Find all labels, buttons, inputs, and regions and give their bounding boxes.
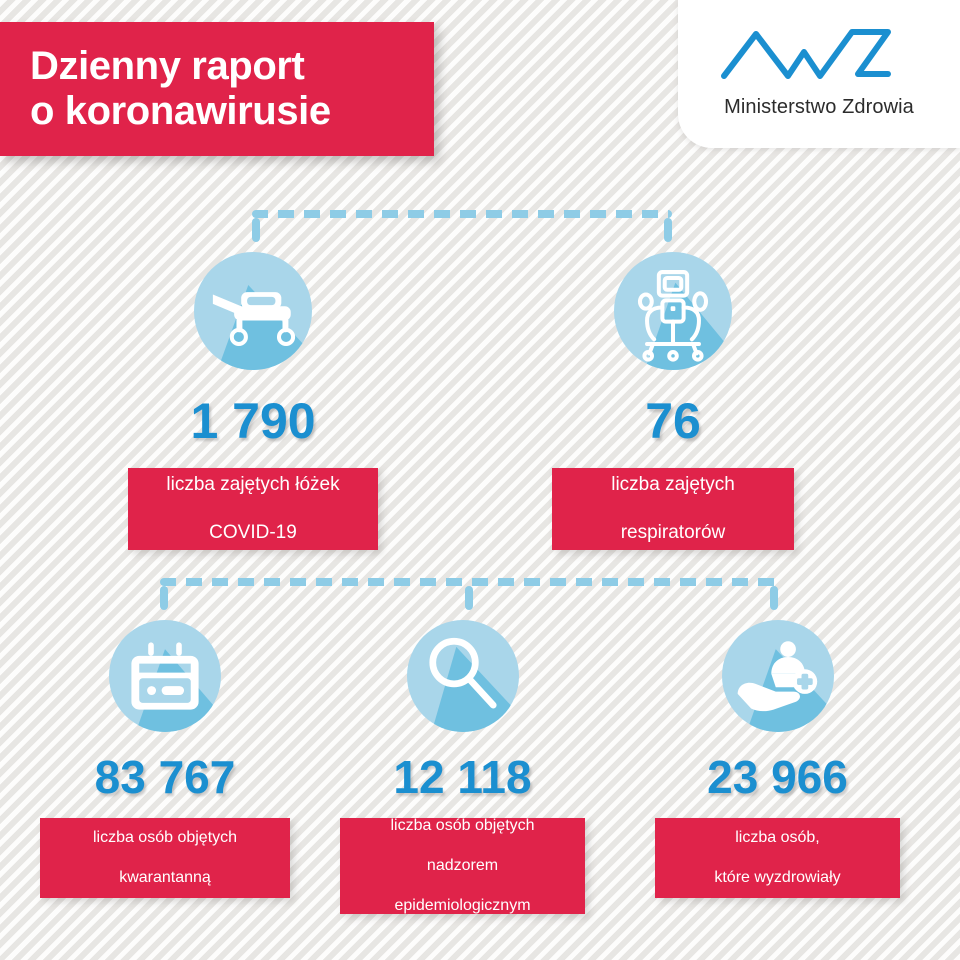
stat-label-banner: liczba zajętych respiratorów	[552, 468, 794, 550]
stat-label-banner: liczba zajętych łóżek COVID-19	[128, 468, 378, 550]
stat-epidemiological-supervision: 12 118 liczba osób objętych nadzorem epi…	[340, 620, 585, 914]
stat-label-line: kwarantanną	[93, 868, 237, 888]
hospital-bed-glyph	[194, 252, 312, 370]
stat-label-line: nadzorem	[390, 856, 534, 876]
magnifier-glyph	[407, 620, 519, 732]
stat-label-line: respiratorów	[611, 521, 735, 545]
stat-value: 23 966	[655, 754, 900, 800]
stat-occupied-beds: 1 790 liczba zajętych łóżek COVID-19	[128, 252, 378, 550]
calendar-glyph	[109, 620, 221, 732]
stat-label: liczba osób objętych nadzorem epidemiolo…	[390, 816, 534, 917]
stat-label-banner: liczba osób objętych nadzorem epidemiolo…	[340, 818, 585, 914]
stat-label-line: liczba osób,	[714, 828, 840, 848]
stat-label: liczba zajętych łóżek COVID-19	[166, 473, 339, 545]
healing-hand-icon	[722, 620, 834, 732]
stat-label-line: COVID-19	[166, 521, 339, 545]
magnifier-icon	[407, 620, 519, 732]
stat-value: 76	[552, 396, 794, 446]
infographic-canvas: Dzienny raport o koronawirusie Ministers…	[0, 0, 960, 960]
stat-value: 83 767	[40, 754, 290, 800]
connector-stub	[770, 586, 778, 610]
calendar-icon	[109, 620, 221, 732]
stat-label: liczba osób objętych kwarantanną	[93, 828, 237, 888]
stat-label-line: liczba osób objętych	[93, 828, 237, 848]
stat-quarantined: 83 767 liczba osób objętych kwarantanną	[40, 620, 290, 898]
connector-line	[252, 210, 672, 218]
mz-logo-icon	[718, 24, 918, 82]
ventilator-glyph	[614, 252, 732, 370]
stat-label-banner: liczba osób, które wyzdrowiały	[655, 818, 900, 898]
connector-stub	[664, 218, 672, 242]
stat-label: liczba zajętych respiratorów	[611, 473, 735, 545]
connector-stub	[160, 586, 168, 610]
ministry-logo-caption: Ministerstwo Zdrowia	[678, 96, 960, 119]
stat-value: 12 118	[340, 754, 585, 800]
stat-label-line: które wyzdrowiały	[714, 868, 840, 888]
title-banner: Dzienny raport o koronawirusie	[0, 22, 434, 156]
connector-line	[160, 578, 778, 586]
ventilator-icon	[614, 252, 732, 370]
hospital-bed-icon	[194, 252, 312, 370]
stat-label-line: liczba osób objętych	[390, 816, 534, 836]
connector-stub	[465, 586, 473, 610]
stat-label-line: epidemiologicznym	[390, 896, 534, 916]
healing-hand-glyph	[722, 620, 834, 732]
title-line-2: o koronawirusie	[0, 89, 434, 134]
stat-value: 1 790	[128, 396, 378, 446]
stat-label: liczba osób, które wyzdrowiały	[714, 828, 840, 888]
stat-label-line: liczba zajętych	[611, 473, 735, 497]
stat-occupied-ventilators: 76 liczba zajętych respiratorów	[552, 252, 794, 550]
stat-recovered: 23 966 liczba osób, które wyzdrowiały	[655, 620, 900, 898]
ministry-logo-panel: Ministerstwo Zdrowia	[678, 0, 960, 148]
connector-stub	[252, 218, 260, 242]
stat-label-line: liczba zajętych łóżek	[166, 473, 339, 497]
stat-label-banner: liczba osób objętych kwarantanną	[40, 818, 290, 898]
title-line-1: Dzienny raport	[0, 44, 434, 89]
